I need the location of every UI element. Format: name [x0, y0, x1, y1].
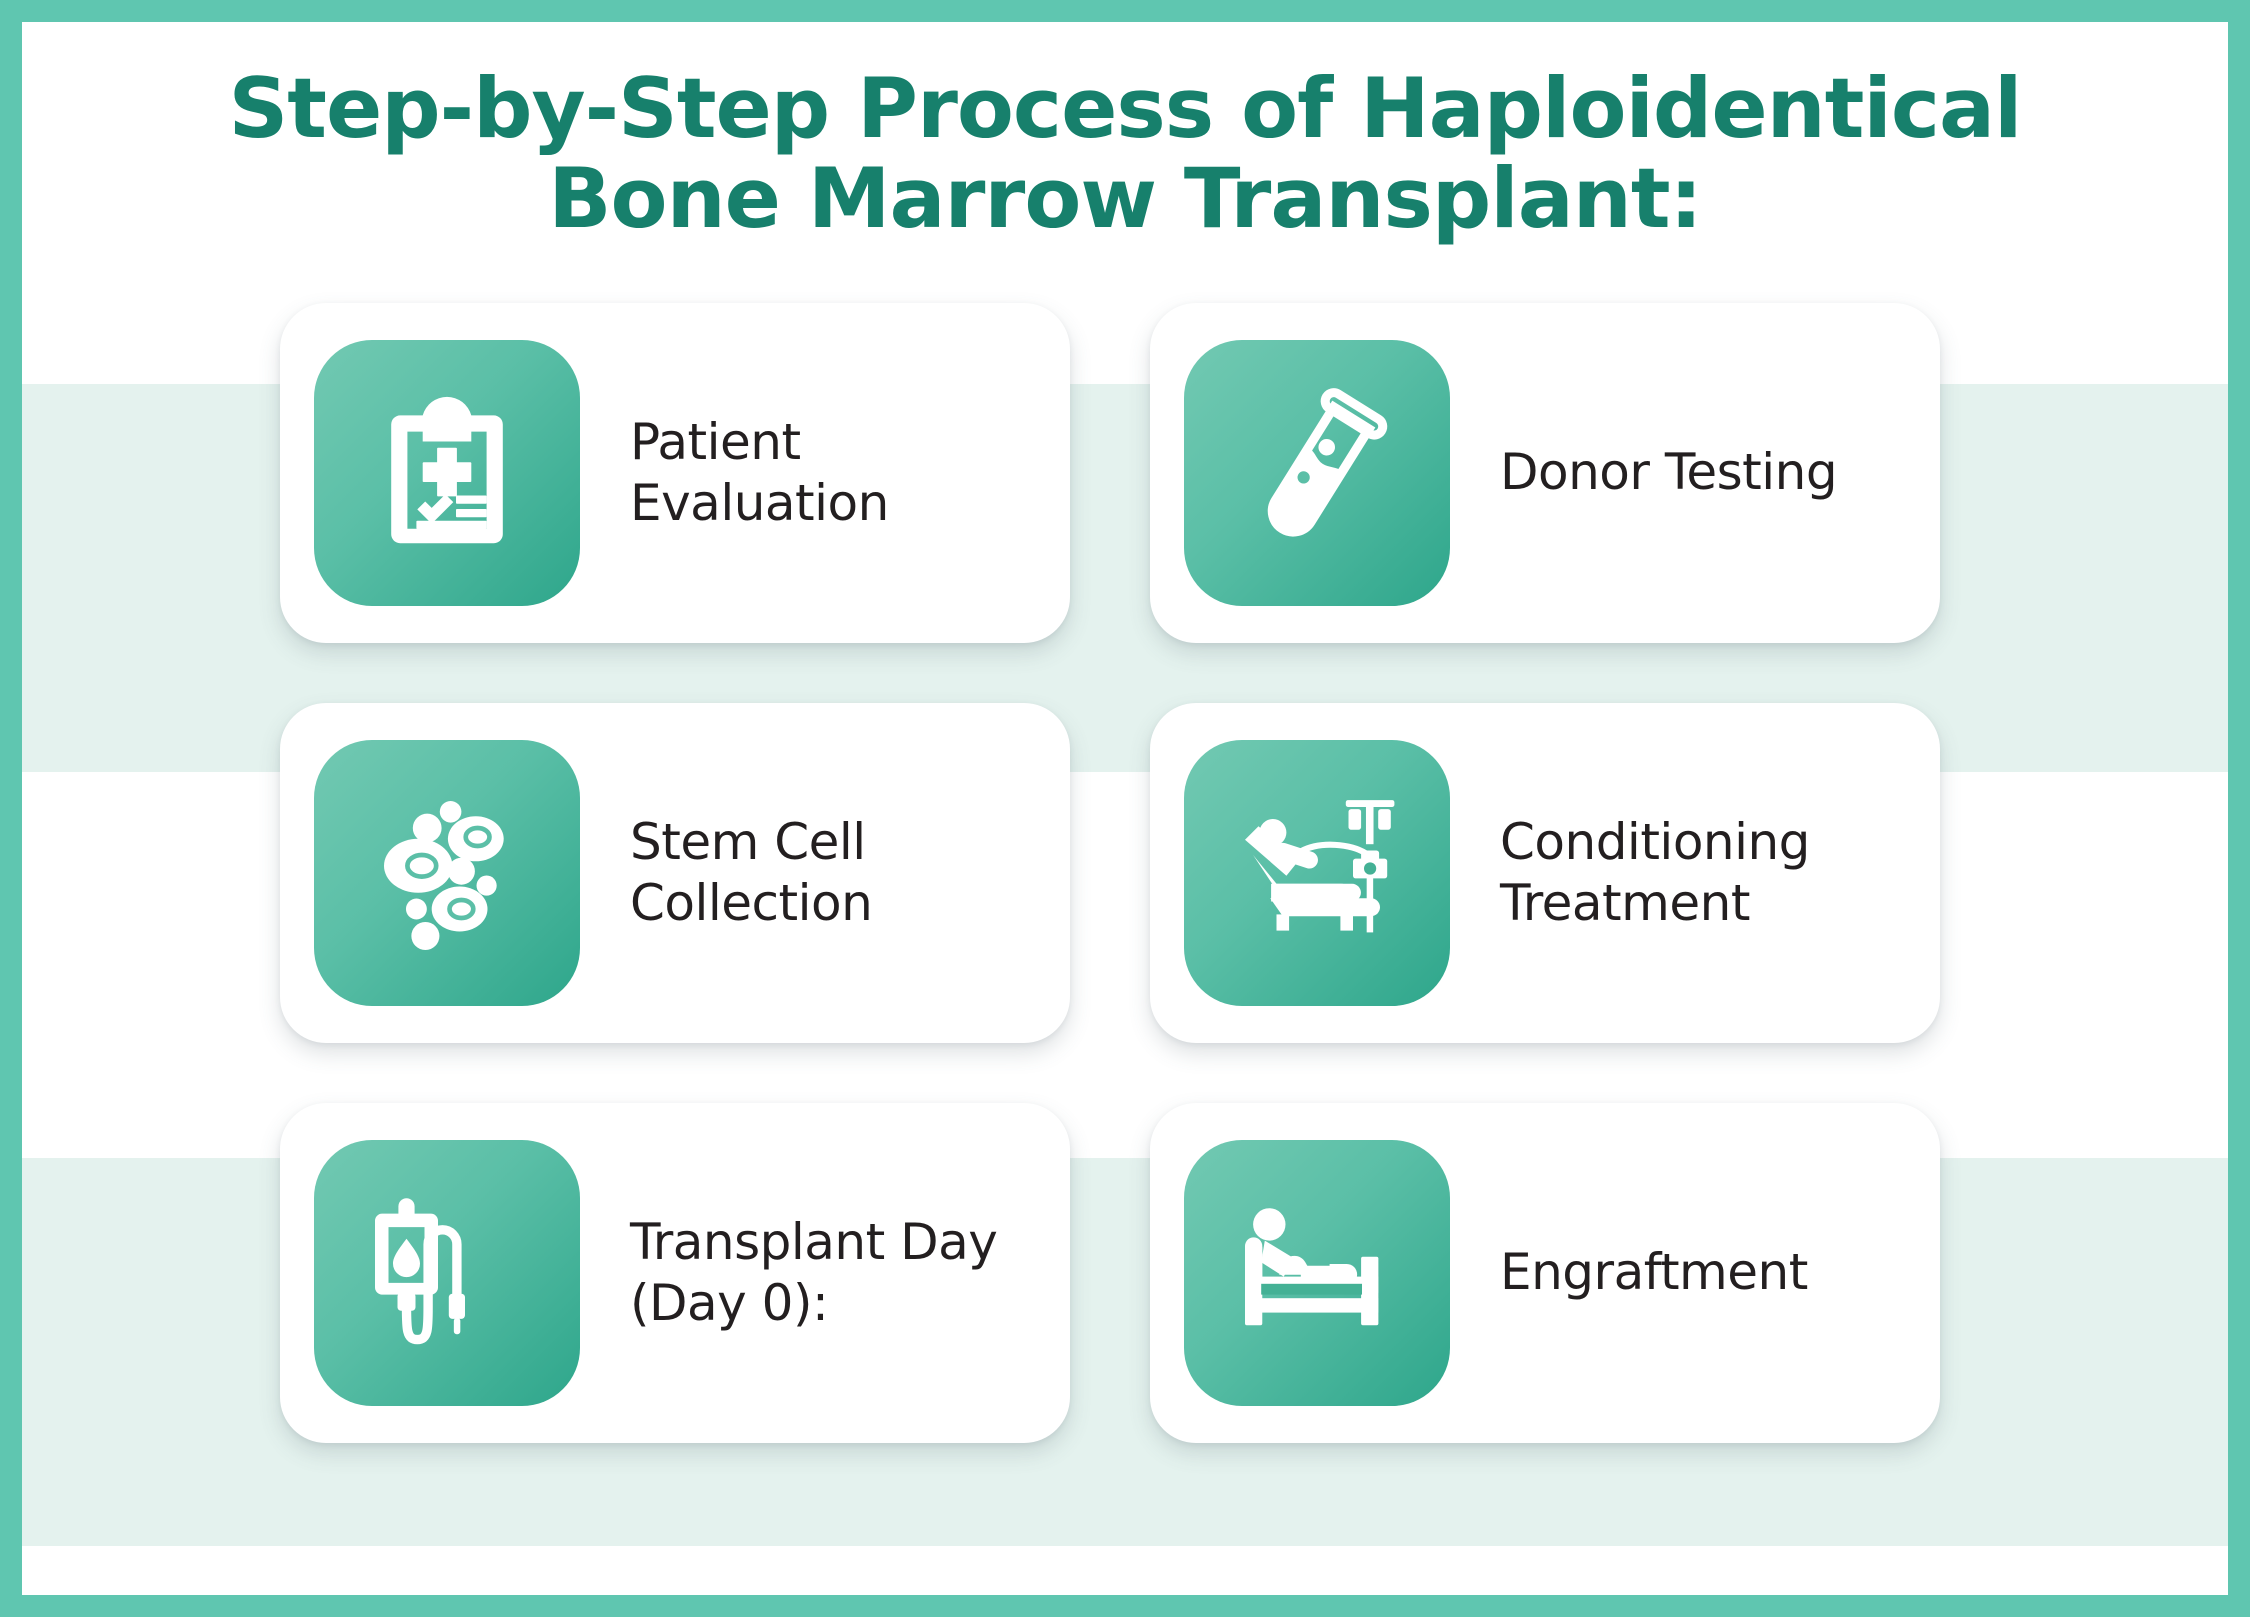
- steps-grid: Patient Evaluation Donor Testing: [280, 303, 2228, 1443]
- icon-tile: [314, 340, 580, 606]
- icon-tile: [1184, 340, 1450, 606]
- clipboard-medical-checklist-icon: [357, 383, 537, 563]
- step-label: Transplant Day (Day 0):: [630, 1212, 997, 1334]
- icon-tile: [314, 1140, 580, 1406]
- step-label-line-2: Collection: [630, 873, 872, 934]
- step-label-line-1: Transplant Day: [630, 1212, 997, 1273]
- page-title-line-1: Step-by-Step Process of Haploidentical: [228, 60, 2021, 157]
- step-label-line-2: (Day 0):: [630, 1273, 997, 1334]
- step-card-transplant-day[interactable]: Transplant Day (Day 0):: [280, 1103, 1070, 1443]
- patient-recliner-iv-drip-icon: [1227, 783, 1407, 963]
- step-label: Engraftment: [1500, 1242, 1808, 1303]
- step-label-line-1: Patient: [630, 412, 889, 473]
- stem-cells-icon: [357, 783, 537, 963]
- step-label-line-1: Stem Cell: [630, 812, 872, 873]
- step-label-line-1: Engraftment: [1500, 1242, 1808, 1303]
- step-label: Stem Cell Collection: [630, 812, 872, 934]
- step-card-patient-evaluation[interactable]: Patient Evaluation: [280, 303, 1070, 643]
- step-label: Conditioning Treatment: [1500, 812, 1810, 934]
- page-title: Step-by-Step Process of Haploidentical B…: [22, 22, 2228, 245]
- step-card-conditioning-treatment[interactable]: Conditioning Treatment: [1150, 703, 1940, 1043]
- step-card-donor-testing[interactable]: Donor Testing: [1150, 303, 1940, 643]
- step-label-line-1: Donor Testing: [1500, 442, 1837, 503]
- icon-tile: [1184, 740, 1450, 1006]
- page-title-line-2: Bone Marrow Transplant:: [142, 154, 2108, 244]
- patient-hospital-bed-icon: [1227, 1183, 1407, 1363]
- infographic-frame: Step-by-Step Process of Haploidentical B…: [22, 22, 2228, 1595]
- step-card-stem-cell-collection[interactable]: Stem Cell Collection: [280, 703, 1070, 1043]
- step-label-line-1: Conditioning: [1500, 812, 1810, 873]
- step-label-line-2: Treatment: [1500, 873, 1810, 934]
- step-label-line-2: Evaluation: [630, 473, 889, 534]
- icon-tile: [1184, 1140, 1450, 1406]
- step-label: Patient Evaluation: [630, 412, 889, 534]
- step-card-engraftment[interactable]: Engraftment: [1150, 1103, 1940, 1443]
- iv-blood-bag-icon: [357, 1183, 537, 1363]
- step-label: Donor Testing: [1500, 442, 1837, 503]
- test-tube-icon: [1227, 383, 1407, 563]
- icon-tile: [314, 740, 580, 1006]
